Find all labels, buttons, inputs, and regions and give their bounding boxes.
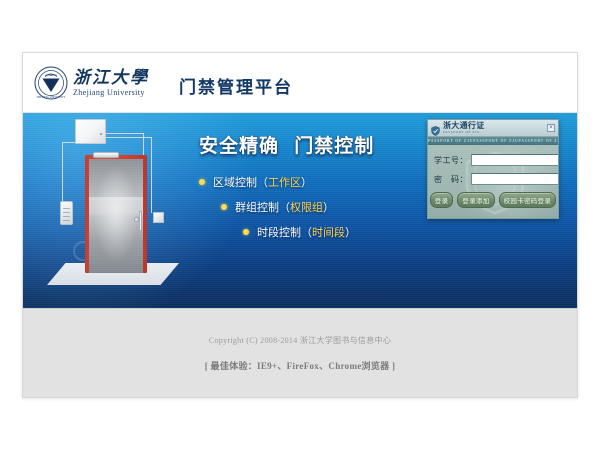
svg-text:ZHEJIANG UNIVERSITY: ZHEJIANG UNIVERSITY [37, 96, 66, 99]
login-panel: 浙大通行证 PASSPORT OF ZJU × PASSPORT OF ZJU … [427, 119, 559, 219]
field-row-userid: 学工号： [434, 154, 552, 166]
site-footer: Copyright (C) 2008-2014 浙江大学图书与信息中心 [ 最佳… [23, 308, 577, 397]
watermark-text: PASSPORT OF ZJU [428, 139, 473, 143]
banner-copy: 安全精确 门禁控制 区域控制（工作区） 群组控制（权限组） 时段控制（时间段） [199, 131, 419, 249]
password-input[interactable] [471, 173, 559, 185]
login-title-cn: 浙大通行证 [443, 122, 485, 130]
door-frame [85, 155, 147, 273]
login-button-row: 登录 登录添加 校园卡密码登录 [434, 192, 552, 208]
access-control-door-illustration [41, 115, 191, 293]
feature-bullet-list: 区域控制（工作区） 群组控制（权限组） 时段控制（时间段） [199, 174, 419, 240]
campus-card-login-button[interactable]: 校园卡密码登录 [499, 192, 557, 208]
bullet-dot-icon [243, 229, 249, 235]
bullet-tail: ） [323, 199, 334, 215]
login-title-en: PASSPORT OF ZJU [443, 131, 485, 134]
bullet-tail: ） [345, 224, 356, 240]
bullet-dot-icon [199, 179, 205, 185]
login-add-button[interactable]: 登录添加 [457, 192, 494, 208]
site-header: ZHEJIANG UNIVERSITY 浙江大學 Zhejiang Univer… [23, 53, 577, 113]
door-panel [89, 159, 143, 273]
password-label: 密 码： [434, 174, 468, 185]
hero-banner: 安全精确 门禁控制 区域控制（工作区） 群组控制（权限组） 时段控制（时间段） [23, 113, 577, 308]
brand-logo[interactable]: ZHEJIANG UNIVERSITY 浙江大學 Zhejiang Univer… [34, 66, 149, 100]
card-reader-keypad-icon [60, 201, 73, 225]
browser-support-text: [ 最佳体验：IE9+、FireFox、Chrome浏览器 ] [205, 359, 396, 372]
bullet-text: 区域控制（ [213, 174, 268, 190]
bullet-highlight: 时间段 [312, 224, 345, 240]
bullet-tail: ） [301, 174, 312, 190]
strike-plate-icon [139, 211, 142, 231]
door-handle-icon [134, 217, 139, 222]
bullet-text: 群组控制（ [235, 199, 290, 215]
watermark-text: PASSPORT OF ZJU [473, 139, 518, 143]
field-row-password: 密 码： [434, 173, 552, 185]
student-staff-id-input[interactable] [471, 154, 559, 166]
close-icon[interactable]: × [547, 124, 555, 132]
login-panel-header: 浙大通行证 PASSPORT OF ZJU × [428, 120, 558, 137]
relay-module-icon [153, 212, 164, 223]
login-button[interactable]: 登录 [430, 192, 454, 208]
list-item: 群组控制（权限组） [221, 199, 419, 215]
login-form: 学工号： 密 码： 登录 登录添加 校园卡密码登录 [428, 145, 558, 219]
passport-watermark-band: PASSPORT OF ZJU PASSPORT OF ZJU PASSPORT… [428, 137, 558, 145]
university-name-en: Zhejiang University [73, 89, 149, 97]
door-highlight-band [89, 197, 143, 215]
list-item: 区域控制（工作区） [199, 174, 419, 190]
controller-box-icon [75, 119, 106, 144]
page-title: 门禁管理平台 [179, 73, 293, 98]
page-container: ZHEJIANG UNIVERSITY 浙江大學 Zhejiang Univer… [22, 52, 578, 398]
copyright-text: Copyright (C) 2008-2014 浙江大学图书与信息中心 [209, 335, 391, 346]
zju-seal-icon: ZHEJIANG UNIVERSITY [34, 66, 68, 100]
bullet-dot-icon [221, 204, 227, 210]
watermark-text: PASSPORT OF ZJU [519, 139, 558, 143]
bullet-text: 时段控制（ [257, 224, 312, 240]
door-closer-icon [93, 152, 119, 158]
university-name-cn: 浙江大學 [73, 69, 149, 86]
list-item: 时段控制（时间段） [243, 224, 419, 240]
brand-wordmark: 浙江大學 Zhejiang University [73, 69, 149, 97]
login-title-block: 浙大通行证 PASSPORT OF ZJU [443, 122, 485, 134]
student-staff-id-label: 学工号： [434, 155, 468, 166]
shield-icon [431, 123, 440, 133]
bullet-highlight: 权限组 [290, 199, 323, 215]
bullet-highlight: 工作区 [268, 174, 301, 190]
banner-slogan: 安全精确 门禁控制 [199, 131, 419, 158]
